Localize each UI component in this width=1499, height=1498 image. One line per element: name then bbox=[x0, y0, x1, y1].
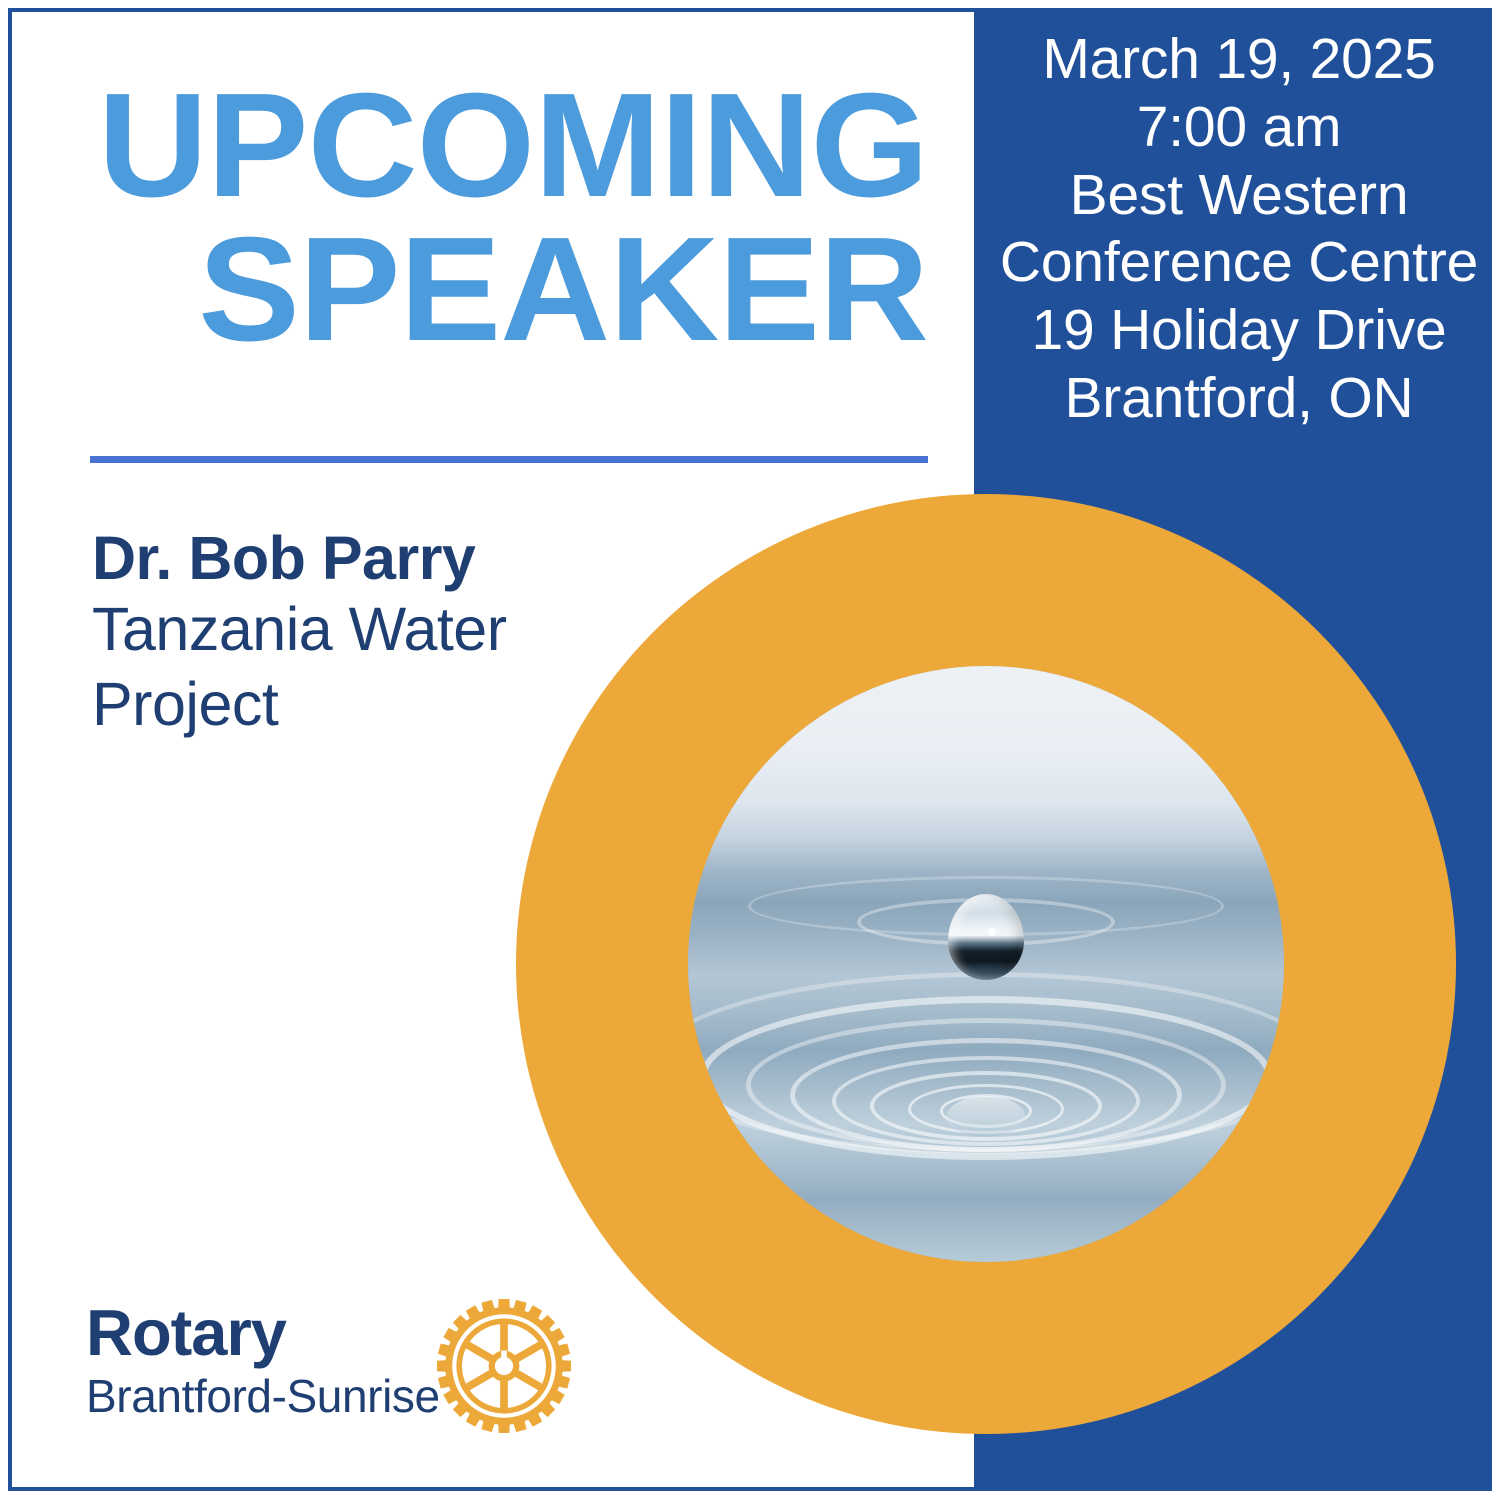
event-details-text: March 19, 2025 7:00 am Best Western Conf… bbox=[974, 26, 1492, 433]
venue-name-line2: Conference Centre bbox=[978, 229, 1492, 297]
speaker-block: Dr. Bob Parry Tanzania Water Project bbox=[92, 524, 612, 741]
poster-frame: March 19, 2025 7:00 am Best Western Conf… bbox=[8, 8, 1492, 1491]
title-divider bbox=[90, 456, 928, 463]
venue-name-line1: Best Western bbox=[978, 162, 1492, 230]
rotary-club-name: Brantford-Sunrise bbox=[86, 1365, 440, 1427]
venue-street: 19 Holiday Drive bbox=[978, 297, 1492, 365]
speaker-name: Dr. Bob Parry bbox=[92, 524, 612, 592]
rotary-logo: Rotary Brantford-Sunrise bbox=[86, 1300, 574, 1436]
rotary-logo-text: Rotary Brantford-Sunrise bbox=[86, 1300, 440, 1427]
rotary-wordmark: Rotary bbox=[86, 1300, 440, 1365]
upcoming-speaker-poster: March 19, 2025 7:00 am Best Western Conf… bbox=[0, 0, 1499, 1498]
event-time: 7:00 am bbox=[978, 94, 1492, 162]
water-droplet-icon bbox=[948, 894, 1024, 980]
page-title: UPCOMING SPEAKER bbox=[82, 74, 928, 361]
speaker-topic: Tanzania Water Project bbox=[92, 592, 612, 741]
venue-city: Brantford, ON bbox=[978, 365, 1492, 433]
rotary-gear-icon bbox=[434, 1296, 574, 1436]
water-droplet-photo bbox=[688, 666, 1284, 1262]
headline-line-2: SPEAKER bbox=[57, 218, 928, 362]
event-date: March 19, 2025 bbox=[978, 26, 1492, 94]
water-photo-medallion bbox=[516, 494, 1456, 1434]
headline-line-1: UPCOMING bbox=[57, 74, 928, 218]
splash-crown bbox=[947, 1096, 1025, 1136]
